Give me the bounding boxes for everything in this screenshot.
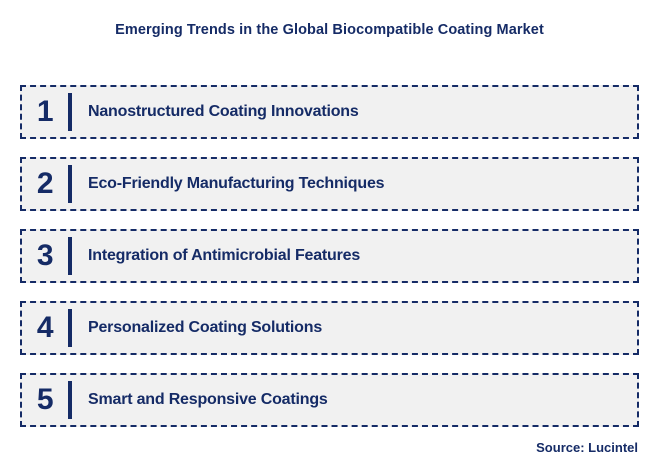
trend-number: 3	[22, 241, 68, 271]
trend-number: 1	[22, 97, 68, 127]
trend-row[interactable]: 2 Eco-Friendly Manufacturing Techniques	[20, 157, 639, 211]
trend-label: Smart and Responsive Coatings	[88, 391, 637, 409]
vertical-divider-icon	[68, 237, 72, 275]
trend-row[interactable]: 3 Integration of Antimicrobial Features	[20, 229, 639, 283]
source-attribution: Source: Lucintel	[536, 440, 638, 455]
trend-label: Nanostructured Coating Innovations	[88, 103, 637, 121]
vertical-divider-icon	[68, 381, 72, 419]
page-title: Emerging Trends in the Global Biocompati…	[0, 22, 659, 38]
trend-number: 5	[22, 385, 68, 415]
trend-label: Eco-Friendly Manufacturing Techniques	[88, 175, 637, 193]
trend-label: Integration of Antimicrobial Features	[88, 247, 637, 265]
trend-row[interactable]: 4 Personalized Coating Solutions	[20, 301, 639, 355]
trend-row[interactable]: 1 Nanostructured Coating Innovations	[20, 85, 639, 139]
trend-label: Personalized Coating Solutions	[88, 319, 637, 337]
vertical-divider-icon	[68, 309, 72, 347]
trend-row[interactable]: 5 Smart and Responsive Coatings	[20, 373, 639, 427]
vertical-divider-icon	[68, 165, 72, 203]
trend-number: 2	[22, 169, 68, 199]
infographic-page: Emerging Trends in the Global Biocompati…	[0, 0, 659, 472]
vertical-divider-icon	[68, 93, 72, 131]
trend-number: 4	[22, 313, 68, 343]
trend-list: 1 Nanostructured Coating Innovations 2 E…	[20, 85, 639, 445]
